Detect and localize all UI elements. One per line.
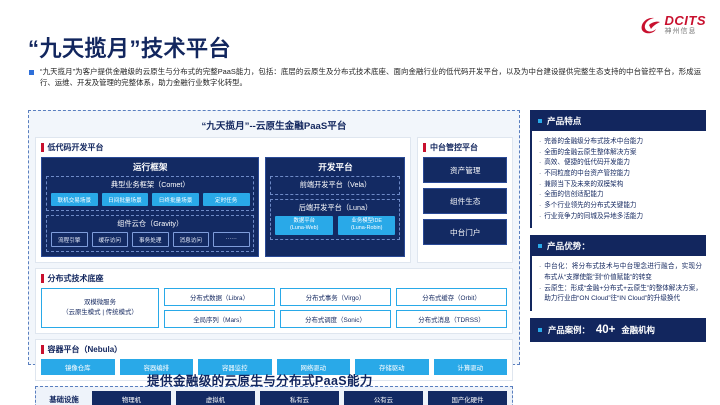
dot-bullet-icon: · [539, 212, 541, 223]
distributed-base-panel: 分布式技术底座 双模微服务 （云原生模式 | 传统模式） 分布式数据（Libra… [35, 268, 513, 334]
dot-bullet-icon: · [539, 137, 541, 148]
midctrl-heading: 中台管控平台 [423, 142, 507, 153]
lowcode-platform-panel: 低代码开发平台 运行框架 典型业务框架（Comet） 联机交易场景 日间批量场景… [35, 137, 411, 263]
list-item-label: 行业竞争力的同城及异地多活能力 [544, 212, 643, 223]
list-item: ·多个行业领先的分布式关键能力 [539, 201, 702, 212]
midctrl-item-portal[interactable]: 中台门户 [423, 219, 507, 245]
product-advantages-card: 产品优势： ·中台化：将分布式技术与中台理念进行融合，实现分布式从“支撑使能”到… [530, 235, 706, 311]
diagram-title: “九天揽月”--云原生金融PaaS平台 [35, 116, 513, 137]
list-item: ·中台化：将分布式技术与中台理念进行融合，实现分布式从“支撑使能”到“价值赋能”… [539, 262, 702, 283]
red-tick-icon [41, 143, 44, 152]
dot-bullet-icon: · [539, 169, 541, 180]
frontend-platform-group: 前端开发平台（Vela） [270, 176, 400, 195]
list-item: ·完善的金融级分布式技术中台能力 [539, 137, 702, 148]
distributed-cell[interactable]: 分布式调度（Sonic） [280, 310, 391, 328]
bottom-caption: 提供金融级的云原生与分布式PaaS能力 [0, 370, 520, 389]
list-item-label: 全面的金融云原生整体解决方案 [544, 148, 636, 159]
product-advantages-list: ·中台化：将分布式技术与中台理念进行融合，实现分布式从“支撑使能”到“价值赋能”… [530, 256, 706, 311]
backend-chip-name: 业务模型IDE [351, 218, 382, 224]
infrastructure-cell[interactable]: 物理机 [92, 391, 171, 405]
distributed-cell[interactable]: 分布式数据（Libra） [164, 288, 275, 306]
comet-chip[interactable]: 联机交易场景 [51, 193, 98, 206]
architecture-diagram: “九天揽月”--云原生金融PaaS平台 低代码开发平台 运行框架 典型业务框架（… [28, 110, 520, 365]
list-item: ·全面的信创适配能力 [539, 190, 702, 201]
product-cases-card: 产品案例： 40+ 金融机构 [530, 318, 706, 342]
infrastructure-cell[interactable]: 虚拟机 [176, 391, 255, 405]
square-bullet-icon [29, 70, 34, 75]
comet-chip[interactable]: 日间批量场景 [102, 193, 149, 206]
backend-chip-row: 数据平台 (Luna-Web) 业务模型IDE (Luna-Robin) [275, 216, 395, 235]
square-marker-icon [538, 328, 542, 332]
list-item-label: 多个行业领先的分布式关键能力 [544, 201, 636, 212]
red-tick-icon [423, 143, 426, 152]
gravity-chip[interactable]: 流程引擎 [51, 232, 88, 247]
devplatform-title: 开发平台 [266, 158, 404, 176]
gravity-chip[interactable]: 事务处理 [132, 232, 169, 247]
list-item-label: 云原生：形成“金融+分布式+云原生”的整体解决方案，助力行业由“ON Cloud… [544, 284, 702, 305]
dot-bullet-icon: · [539, 262, 541, 283]
distributed-grid: 双模微服务 （云原生模式 | 传统模式） 分布式数据（Libra） 全局序列（M… [41, 288, 507, 328]
dot-bullet-icon: · [539, 190, 541, 201]
midoffice-control-panel: 中台管控平台 资产管理 组件生态 中台门户 [417, 137, 513, 263]
midctrl-item-asset[interactable]: 资产管理 [423, 157, 507, 183]
slide-root: DCITS 神州信息 “九天揽月”技术平台 “九天揽月”为客户提供金融级的云原生… [0, 0, 720, 405]
backend-chip-data-platform[interactable]: 数据平台 (Luna-Web) [275, 216, 333, 235]
infrastructure-cell[interactable]: 国产化硬件 [428, 391, 507, 405]
infrastructure-label: 基础设施 [41, 394, 87, 405]
midctrl-item-ecology[interactable]: 组件生态 [423, 188, 507, 214]
distributed-heading: 分布式技术底座 [41, 273, 507, 284]
list-item-label: 高效、便捷的低代码开发能力 [544, 158, 630, 169]
list-item-label: 兼顾当下及未来的双模架构 [544, 180, 623, 191]
dot-bullet-icon: · [539, 158, 541, 169]
list-item: ·行业竞争力的同城及异地多活能力 [539, 212, 702, 223]
infrastructure-cell[interactable]: 公有云 [344, 391, 423, 405]
comet-group: 典型业务框架（Comet） 联机交易场景 日间批量场景 日终批量场景 定时任务 [46, 176, 254, 211]
product-cases-label: 产品案例： [548, 324, 590, 336]
lowcode-heading: 低代码开发平台 [41, 142, 405, 153]
dot-bullet-icon: · [539, 180, 541, 191]
comet-title: 典型业务框架（Comet） [51, 180, 249, 193]
comet-chip[interactable]: 日终批量场景 [152, 193, 199, 206]
distributed-cell[interactable]: 分布式消息（TDRSS） [396, 310, 507, 328]
backend-platform-label: 后端开发平台（Luna） [275, 203, 395, 213]
brand-name-cn: 神州信息 [665, 28, 707, 35]
red-tick-icon [41, 274, 44, 283]
page-title: “九天揽月”技术平台 [28, 31, 231, 63]
container-heading: 容器平台（Nebula） [41, 344, 507, 355]
runtime-title: 运行框架 [42, 158, 258, 176]
square-marker-icon [538, 119, 542, 123]
right-rail: 产品特点 ·完善的金融级分布式技术中台能力 ·全面的金融云原生整体解决方案 ·高… [530, 110, 706, 342]
distributed-column: 分布式事务（Virgo） 分布式调度（Sonic） [280, 288, 391, 328]
list-item-label: 不同粒度的中台资产管控能力 [544, 169, 630, 180]
development-platform-block: 开发平台 前端开发平台（Vela） 后端开发平台（Luna） 数据平台 (Lun… [265, 157, 405, 257]
midctrl-heading-label: 中台管控平台 [430, 142, 478, 153]
distributed-heading-label: 分布式技术底座 [48, 273, 104, 284]
container-heading-label: 容器平台（Nebula） [48, 344, 123, 355]
list-item: ·兼顾当下及未来的双模架构 [539, 180, 702, 191]
dot-bullet-icon: · [539, 284, 541, 305]
dot-bullet-icon: · [539, 148, 541, 159]
distributed-cell[interactable]: 分布式缓存（Orbit） [396, 288, 507, 306]
product-cases-number: 40+ [596, 324, 616, 336]
runtime-framework-block: 运行框架 典型业务框架（Comet） 联机交易场景 日间批量场景 日终批量场景 … [41, 157, 259, 257]
infrastructure-cell[interactable]: 私有云 [260, 391, 339, 405]
distributed-cell[interactable]: 全局序列（Mars） [164, 310, 275, 328]
list-item-label: 全面的信创适配能力 [544, 190, 603, 201]
dual-mode-line2: （云原生模式 | 传统模式） [62, 308, 138, 318]
gravity-chip[interactable]: 缓存访问 [92, 232, 129, 247]
gravity-title: 组件云仓（Gravity） [51, 219, 249, 232]
frontend-platform-label: 前端开发平台（Vela） [275, 180, 395, 190]
product-features-list: ·完善的金融级分布式技术中台能力 ·全面的金融云原生整体解决方案 ·高效、便捷的… [530, 131, 706, 228]
comet-chip-row: 联机交易场景 日间批量场景 日终批量场景 定时任务 [51, 193, 249, 206]
list-item: ·高效、便捷的低代码开发能力 [539, 158, 702, 169]
gravity-chip-more[interactable]: ······ [213, 232, 250, 247]
backend-chip-code: (Luna-Robin) [351, 225, 382, 231]
brand-logo: DCITS 神州信息 [639, 14, 707, 35]
diagram-top-row: 低代码开发平台 运行框架 典型业务框架（Comet） 联机交易场景 日间批量场景… [35, 137, 513, 263]
product-advantages-title: 产品优势： [547, 240, 590, 252]
product-features-card: 产品特点 ·完善的金融级分布式技术中台能力 ·全面的金融云原生整体解决方案 ·高… [530, 110, 706, 228]
product-features-header: 产品特点 [530, 110, 706, 131]
list-item: ·不同粒度的中台资产管控能力 [539, 169, 702, 180]
list-item-label: 完善的金融级分布式技术中台能力 [544, 137, 643, 148]
list-item: ·云原生：形成“金融+分布式+云原生”的整体解决方案，助力行业由“ON Clou… [539, 284, 702, 305]
dot-bullet-icon: · [539, 201, 541, 212]
intro-paragraph: “九天揽月”为客户提供金融级的云原生与分布式的完整PaaS能力，包括：底层的云原… [29, 66, 701, 89]
distributed-column: 分布式缓存（Orbit） 分布式消息（TDRSS） [396, 288, 507, 328]
lowcode-heading-label: 低代码开发平台 [48, 142, 104, 153]
product-features-title: 产品特点 [547, 115, 581, 127]
gravity-chip[interactable]: 消息访问 [173, 232, 210, 247]
backend-chip-code: (Luna-Web) [290, 225, 318, 231]
backend-chip-model-ide[interactable]: 业务模型IDE (Luna-Robin) [338, 216, 396, 235]
distributed-cell[interactable]: 分布式事务（Virgo） [280, 288, 391, 306]
red-tick-icon [41, 345, 44, 354]
list-item: ·全面的金融云原生整体解决方案 [539, 148, 702, 159]
intro-text: “九天揽月”为客户提供金融级的云原生与分布式的完整PaaS能力，包括：底层的云原… [40, 66, 701, 89]
dual-mode-line1: 双模微服务 [84, 298, 116, 308]
gravity-group: 组件云仓（Gravity） 流程引擎 缓存访问 事务处理 消息访问 ······ [46, 215, 254, 252]
gravity-chip-row: 流程引擎 缓存访问 事务处理 消息访问 ······ [51, 232, 249, 247]
product-advantages-header: 产品优势： [530, 235, 706, 256]
list-item-label: 中台化：将分布式技术与中台理念进行融合，实现分布式从“支撑使能”到“价值赋能”的… [544, 262, 702, 283]
brand-name-en: DCITS [665, 14, 707, 27]
dual-mode-microservice-cell[interactable]: 双模微服务 （云原生模式 | 传统模式） [41, 288, 159, 328]
distributed-column: 分布式数据（Libra） 全局序列（Mars） [164, 288, 275, 328]
comet-chip[interactable]: 定时任务 [203, 193, 250, 206]
square-marker-icon [538, 244, 542, 248]
backend-chip-name: 数据平台 [293, 218, 315, 224]
product-cases-unit: 金融机构 [621, 324, 655, 336]
dcits-swoosh-icon [639, 15, 661, 35]
backend-platform-group: 后端开发平台（Luna） 数据平台 (Luna-Web) 业务模型IDE (Lu… [270, 199, 400, 240]
